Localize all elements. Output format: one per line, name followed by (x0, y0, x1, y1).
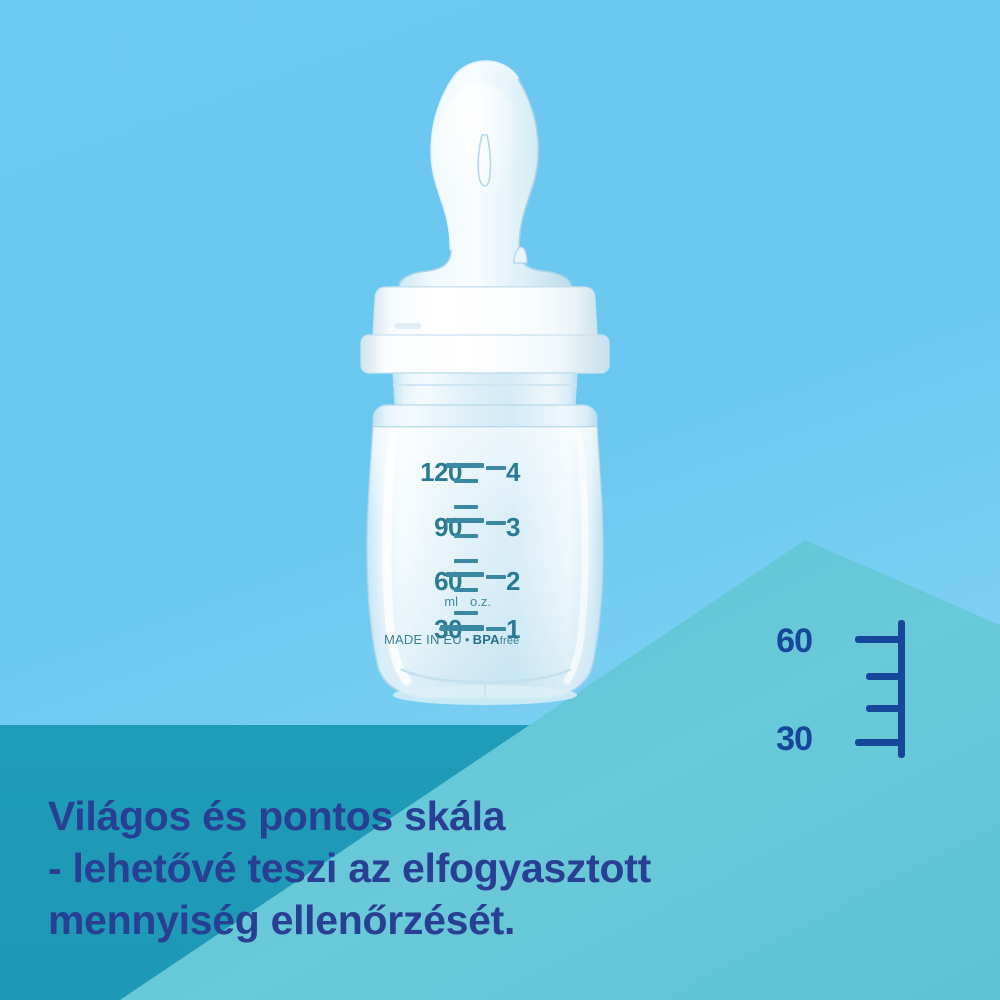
magnified-tick-60 (855, 636, 905, 643)
made-in-eu-text: MADE IN EU (384, 632, 462, 647)
scale-oz-2: 2 (506, 568, 520, 594)
bpa-text: BPA (473, 632, 500, 647)
poster-canvas: 120 4 90 3 60 2 ml o.z. 30 1 MADE IN EU•… (0, 0, 1000, 1000)
scale-tick-minor-4 (454, 559, 478, 563)
scale-tick-minor-1 (454, 479, 478, 483)
bpa-free-text: free (500, 635, 520, 647)
headline-block: Világos és pontos skála - lehetővé teszi… (48, 790, 828, 946)
magnified-label-30: 30 (776, 722, 812, 756)
bottle-measurement-scale: 120 4 90 3 60 2 ml o.z. 30 1 (390, 445, 550, 650)
headline-line-2: - lehetővé teszi az elfogyasztott (48, 842, 828, 894)
scale-tick-minor-2 (454, 505, 478, 509)
scale-oz-3: 3 (506, 514, 520, 540)
headline-line-1: Világos és pontos skála (48, 790, 828, 842)
scale-oz-tick-1 (486, 627, 506, 631)
scale-tick-90 (446, 518, 484, 523)
scale-tick-minor-3 (454, 534, 478, 538)
bullet-separator: • (465, 632, 470, 647)
scale-tick-30 (440, 625, 484, 631)
scale-unit-ml: ml (444, 595, 458, 608)
magnified-tick-minor-1 (866, 673, 905, 680)
scale-tick-60 (446, 572, 484, 577)
scale-oz-4: 4 (506, 459, 520, 485)
magnified-scale-graphic: 60 30 (770, 600, 930, 780)
scale-oz-tick-2 (486, 575, 506, 579)
scale-oz-tick-3 (486, 521, 506, 525)
bottle-origin-text: MADE IN EU•BPAfree (384, 632, 584, 647)
scale-tick-minor-5 (454, 588, 478, 592)
scale-oz-tick-4 (486, 466, 506, 470)
magnified-tick-30 (855, 739, 905, 746)
magnified-label-60: 60 (776, 624, 812, 658)
magnified-tick-minor-2 (866, 705, 905, 712)
scale-unit-oz: o.z. (470, 595, 491, 608)
headline-line-3: mennyiség ellenőrzését. (48, 894, 828, 946)
scale-tick-120 (446, 463, 484, 468)
